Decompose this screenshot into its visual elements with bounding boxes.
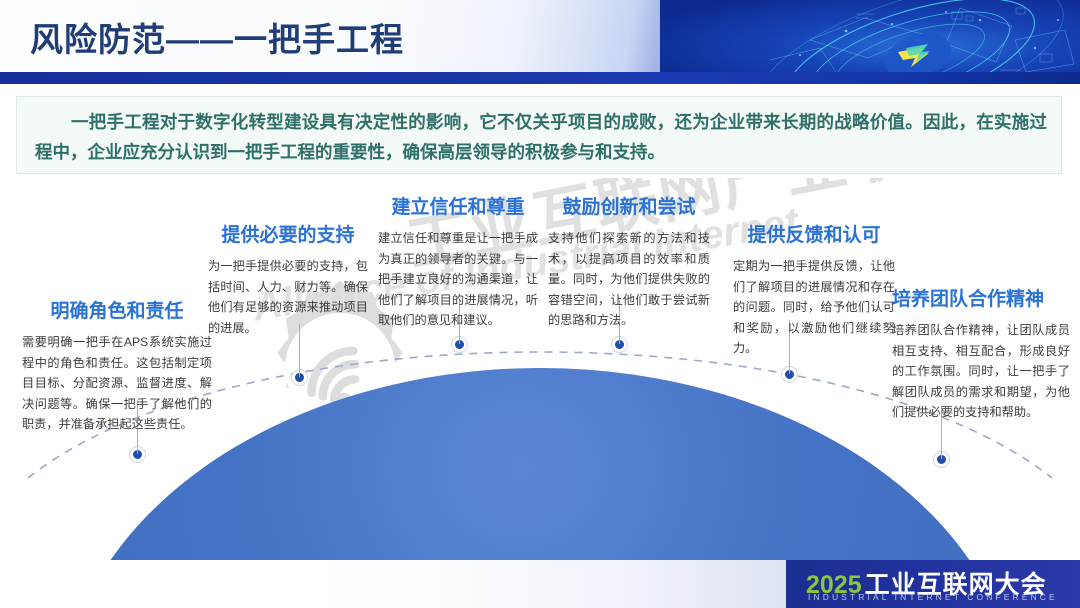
node-4 — [612, 337, 627, 352]
card-2-body: 为一把手提供必要的支持，包括时间、人力、财力等。确保他们有足够的资源来推动项目的… — [208, 256, 368, 338]
card-1: 明确角色和责任 需要明确一把手在APS系统实施过程中的角色和责任。这包括制定项目… — [22, 300, 212, 435]
card-1-body: 需要明确一把手在APS系统实施过程中的角色和责任。这包括制定项目目标、分配资源、… — [22, 332, 212, 435]
card-4-heading: 鼓励创新和尝试 — [548, 196, 710, 220]
node-5 — [782, 367, 797, 382]
slide-header: 风险防范——一把手工程 — [0, 0, 1080, 84]
footer-brand-bar: 2025 工业互联网大会 INDUSTRIAL INTERNET CONFERE… — [786, 560, 1080, 608]
card-5-heading: 提供反馈和认可 — [733, 224, 895, 248]
node-3 — [452, 337, 467, 352]
card-1-heading: 明确角色和责任 — [22, 300, 212, 324]
card-6-heading: 培养团队合作精神 — [892, 288, 1070, 312]
summary-text: 一把手工程对于数字化转型建设具有决定性的影响，它不仅关乎项目的成败，还为企业带来… — [35, 107, 1047, 167]
card-3: 建立信任和尊重 建立信任和尊重是让一把手成为真正的领导者的关键。与一把手建立良好… — [378, 196, 538, 331]
node-2 — [292, 370, 307, 385]
footer-left-fade — [0, 560, 786, 608]
node-1 — [130, 447, 145, 462]
card-5-body: 定期为一把手提供反馈，让他们了解项目的进展情况和存在的问题。同时，给予他们认可和… — [733, 256, 895, 359]
header-accent-bar — [0, 72, 1080, 84]
summary-box: 一把手工程对于数字化转型建设具有决定性的影响，它不仅关乎项目的成败，还为企业带来… — [16, 96, 1062, 174]
card-6-body: 培养团队合作精神，让团队成员相互支持、相互配合，形成良好的工作氛围。同时，让一把… — [892, 320, 1070, 423]
node-6 — [934, 452, 949, 467]
diagram-stage: 工业互联网产业联盟 Alliance of Industrial Interne… — [0, 178, 1080, 608]
page-title: 风险防范——一把手工程 — [30, 13, 404, 61]
card-3-heading: 建立信任和尊重 — [378, 196, 538, 220]
card-3-body: 建立信任和尊重是让一把手成为真正的领导者的关键。与一把手建立良好的沟通渠道，让他… — [378, 228, 538, 331]
slide-root: 风险防范——一把手工程 一把手工程对于数字化转型建设具有决定性的影响，它不仅关乎… — [0, 0, 1080, 608]
card-2: 提供必要的支持 为一把手提供必要的支持，包括时间、人力、财力等。确保他们有足够的… — [208, 224, 368, 338]
card-4: 鼓励创新和尝试 支持他们探索新的方法和技术，以提高项目的效率和质量。同时，为他们… — [548, 196, 710, 331]
card-6: 培养团队合作精神 培养团队合作精神，让团队成员相互支持、相互配合，形成良好的工作… — [892, 288, 1070, 423]
logo-name-en: INDUSTRIAL INTERNET CONFERENCE — [808, 592, 1058, 602]
card-4-body: 支持他们探索新的方法和技术，以提高项目的效率和质量。同时，为他们提供失败的容错空… — [548, 228, 710, 331]
card-5: 提供反馈和认可 定期为一把手提供反馈，让他们了解项目的进展情况和存在的问题。同时… — [733, 224, 895, 359]
card-2-heading: 提供必要的支持 — [208, 224, 368, 248]
slide-footer: 2025 工业互联网大会 INDUSTRIAL INTERNET CONFERE… — [0, 560, 1080, 608]
